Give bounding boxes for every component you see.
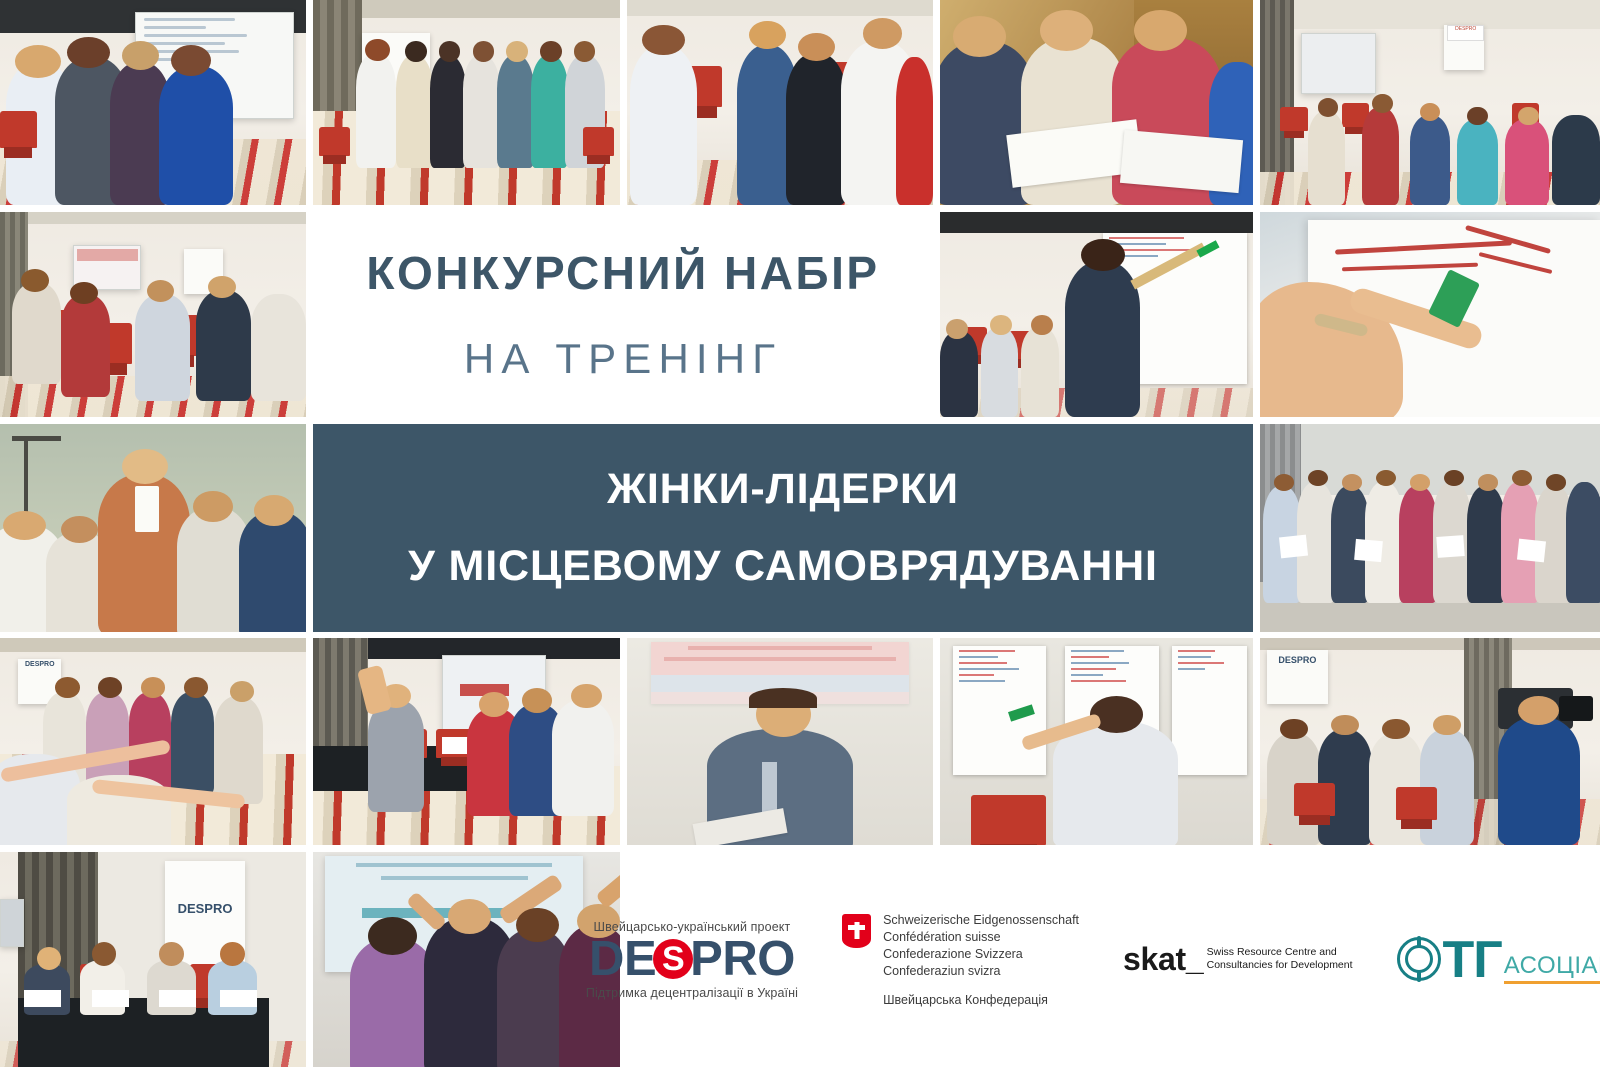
swiss-line-rm: Confederaziun svizra [883,963,1079,980]
despro-logo: Швейцарсько-український проект DE S PRO … [586,920,798,1000]
swiss-cross-icon [842,914,871,948]
photo-12-image [313,638,620,845]
swiss-line-it: Confederazione Svizzera [883,946,1079,963]
photo-7-image [940,212,1253,417]
headline-secondary: НА ТРЕНІНГ [464,338,782,380]
photo-tile-11: DESPRO [0,638,306,845]
swiss-name-lines: Schweizerische Eidgenossenschaft Confédé… [883,912,1079,980]
logo-strip: Швейцарсько-український проект DE S PRO … [627,852,1600,1067]
skat-wordmark: skat [1123,944,1186,974]
otg-letters: ТГ [1443,938,1502,982]
skat-subtitle: Swiss Resource Centre and Consultancies … [1207,946,1353,972]
photo-tile-17 [313,852,620,1067]
banner-line-1: ЖІНКИ-ЛІДЕРКИ [607,468,959,511]
photo-13-image [627,638,933,845]
photo-16-image: DESPRO [0,852,306,1067]
skat-logo: skat _ Swiss Resource Centre and Consult… [1123,944,1353,974]
photo-tile-1 [0,0,306,205]
despro-word-right: PRO [690,935,795,984]
photo-tile-2 [313,0,620,205]
swiss-confederation-logo: Schweizerische Eidgenossenschaft Confédé… [842,912,1079,1007]
photo-5-image: DESPRO [1260,0,1600,205]
otg-association-wrap: АСОЦІАЦІЯ [1504,954,1600,984]
photo-2-image [313,0,620,205]
photo-6-image [0,212,306,417]
title-banner: ЖІНКИ-ЛІДЕРКИ У МІСЦЕВОМУ САМОВРЯДУВАННІ [313,424,1253,632]
photo-tile-13 [627,638,933,845]
photo-tile-8 [1260,212,1600,417]
photo-4-image [940,0,1253,205]
skat-subtitle-line-1: Swiss Resource Centre and [1207,946,1353,959]
headline-primary: КОНКУРСНИЙ НАБІР [366,250,879,296]
swiss-line-de: Schweizerische Eidgenossenschaft [883,912,1079,929]
despro-word-left: DE [589,935,656,984]
photo-8-image [1260,212,1600,417]
banner-line-2: У МІСЦЕВОМУ САМОВРЯДУВАННІ [408,545,1158,588]
photo-tile-15: DESPRO [1260,638,1600,845]
photo-1-image [0,0,306,205]
despro-wordmark: DE S PRO [589,935,795,984]
otg-association-logo: ТГ АСОЦІАЦІЯ [1397,937,1600,982]
photo-tile-16: DESPRO [0,852,306,1067]
headline-block: КОНКУРСНИЙ НАБІР НА ТРЕНІНГ [313,212,933,417]
photo-tile-12 [313,638,620,845]
poster-canvas: DESPRO [0,0,1600,1067]
otg-orange-rule [1504,981,1600,984]
despro-tagline-bottom: Підтримка децентралізації в Україні [586,986,798,1000]
skat-underscore: _ [1186,944,1204,974]
photo-tile-7 [940,212,1253,417]
despro-s-mark: S [653,939,693,979]
photo-3-image [627,0,933,205]
photo-9-image [0,424,306,632]
photo-tile-5: DESPRO [1260,0,1600,205]
photo-tile-3 [627,0,933,205]
photo-tile-6 [0,212,306,417]
photo-tile-4 [940,0,1253,205]
photo-10-image [1260,424,1600,632]
photo-17-image [313,852,620,1067]
swiss-line-uk: Швейцарська Конфедерація [883,993,1048,1007]
swiss-line-fr: Confédération suisse [883,929,1079,946]
photo-tile-14 [940,638,1253,845]
photo-11-image: DESPRO [0,638,306,845]
skat-subtitle-line-2: Consultancies for Development [1207,959,1353,972]
otg-circle-icon [1397,937,1441,981]
photo-15-image: DESPRO [1260,638,1600,845]
otg-association-label: АСОЦІАЦІЯ [1504,954,1600,981]
photo-tile-9 [0,424,306,632]
despro-s-letter: S [662,942,684,976]
photo-tile-10 [1260,424,1600,632]
photo-14-image [940,638,1253,845]
